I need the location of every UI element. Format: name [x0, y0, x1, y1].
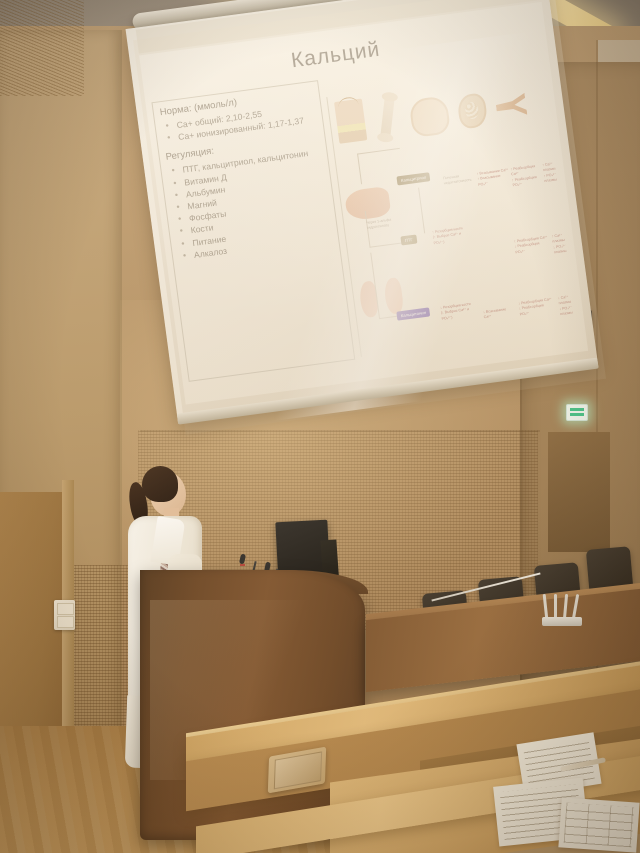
skin-icon [334, 98, 367, 143]
paper-form-3[interactable] [558, 797, 639, 852]
diagram-note: ↓ Реабсорбция Ca²⁺ ↓ Реабсорбция PO₄³⁻ [518, 297, 554, 318]
diagram-note: ↑ Ca²⁺ плазмы ↓ PO₄³⁻ плазмы [551, 232, 576, 256]
diagram-note: Почечная недостаточность [443, 172, 474, 187]
presentation-slide: Кальций Норма: (ммоль/л) Ca+ общий: 2,10… [139, 2, 588, 405]
slide-title: Кальций [290, 38, 382, 74]
diagram-arrow [418, 188, 426, 234]
projection-screen-assembly: Кальций Норма: (ммоль/л) Ca+ общий: 2,10… [118, 0, 600, 434]
blood-vessel-icon [495, 93, 528, 119]
microphone-indicator [240, 564, 245, 566]
calcium-metabolism-diagram: Кальцитриол ПТГ Кальцитонин Почечная нед… [326, 68, 580, 357]
acoustic-panel-top-left [0, 0, 84, 96]
slide-text-box: Норма: (ммоль/л) Ca+ общий: 2,10-2,55 Ca… [151, 80, 355, 382]
table-microphones [540, 592, 582, 626]
wall-niche [548, 432, 610, 552]
kidney-icon [456, 92, 488, 129]
microphone-base [542, 617, 582, 626]
light-switch[interactable] [54, 600, 75, 630]
diagram-note: ↓ Резорбция кости (↓ Выброс Ca²⁺ и PO₄³⁻… [440, 301, 480, 322]
lecture-hall-photo: Кальций Норма: (ммоль/л) Ca+ общий: 2,10… [0, 0, 640, 853]
regulation-list: ПТГ, кальцитриол, кальцитонин Витамин Д … [171, 146, 333, 263]
hair [142, 466, 178, 502]
exit-sign-icon [566, 404, 588, 421]
diagram-note: ↑ Всасывание Ca²⁺ ↑ Всасывание PO₄³⁻ [477, 168, 511, 188]
diagram-note: ↑ Резорбция кости (↑ Выброс Ca²⁺ и PO₄³⁻… [432, 225, 472, 246]
bone-icon [380, 95, 395, 140]
diagram-note: ↓ Всасывание Ca²⁺ [483, 306, 514, 321]
diagram-note: ↑ Реабсорбция Ca²⁺ ↑ Реабсорбция PO₄³⁻ [510, 163, 545, 189]
node-pth: ПТГ [400, 234, 417, 245]
paper-table-grid [564, 803, 635, 848]
diagram-note: ↑ Ca²⁺ плазмы ↑ PO₄³⁻ плазмы [542, 160, 567, 184]
diagram-note: ↑ Реабсорбция Ca²⁺ ↓ Реабсорбция PO₄³⁻ [514, 235, 550, 256]
diagram-note: ↓ Ca²⁺ плазмы ↓ PO₄³⁻ плазмы [558, 293, 585, 318]
projection-screen: Кальций Норма: (ммоль/л) Ca+ общий: 2,10… [126, 0, 599, 424]
diagram-connector [370, 248, 414, 319]
intestine-icon [408, 95, 451, 138]
